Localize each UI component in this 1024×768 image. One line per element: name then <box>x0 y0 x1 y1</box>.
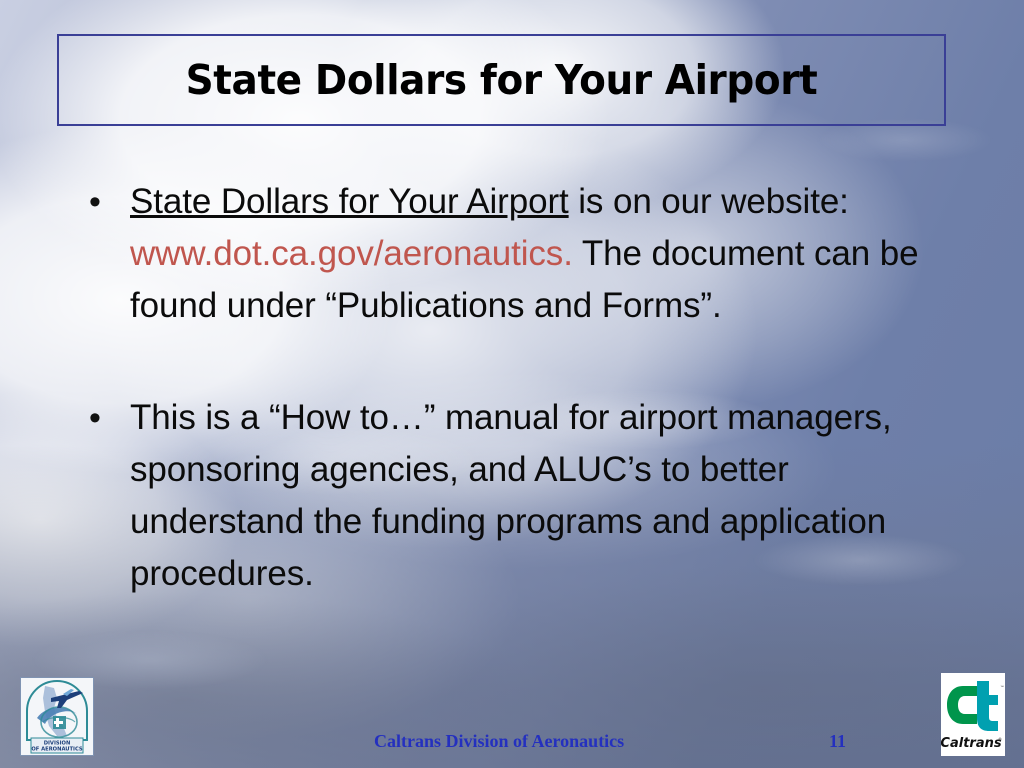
bullet-text: State Dollars for Your Airport is on our… <box>130 176 964 332</box>
bullet-item: • This is a “How to…” manual for airport… <box>84 392 964 600</box>
slide-title: State Dollars for Your Airport <box>186 56 818 104</box>
slide-canvas: State Dollars for Your Airport • State D… <box>0 0 1024 768</box>
bullet-marker-icon: • <box>84 392 130 444</box>
bullet-text-plain-a: is on our website: <box>569 182 849 221</box>
caltrans-ct-icon: ™ Caltrans ® <box>941 673 1005 756</box>
slide-title-box: State Dollars for Your Airport <box>57 34 946 126</box>
seal-line2: OF AERONAUTICS <box>31 747 83 753</box>
caltrans-wordmark: Caltrans <box>941 736 1002 751</box>
svg-text:®: ® <box>998 737 1002 742</box>
footer-organization: Caltrans Division of Aeronautics <box>374 731 624 752</box>
bullet-text: This is a “How to…” manual for airport m… <box>130 392 964 600</box>
website-url-link[interactable]: www.dot.ca.gov/aeronautics. <box>130 234 573 273</box>
slide-body: • State Dollars for Your Airport is on o… <box>84 176 964 600</box>
document-title-underlined: State Dollars for Your Airport <box>130 182 569 221</box>
svg-text:™: ™ <box>1000 685 1005 691</box>
division-of-aeronautics-logo: DIVISION OF AERONAUTICS <box>20 677 94 756</box>
footer-page-number: 11 <box>829 731 846 752</box>
caltrans-logo: ™ Caltrans ® <box>941 673 1005 756</box>
bullet-marker-icon: • <box>84 176 130 228</box>
division-of-aeronautics-seal-icon: DIVISION OF AERONAUTICS <box>21 678 93 755</box>
bullet-item: • State Dollars for Your Airport is on o… <box>84 176 964 332</box>
